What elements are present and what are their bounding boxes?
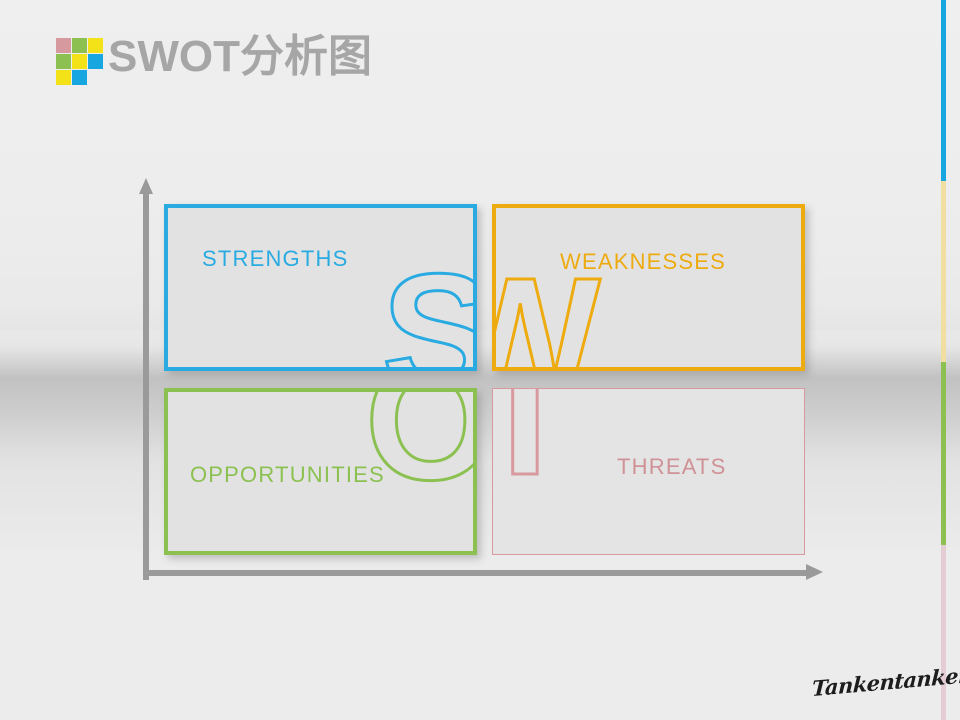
logo-tile-yellow [88,38,103,53]
strip-yellow [941,181,946,362]
quadrant-threats[interactable]: T THREATS [492,388,805,555]
page-title: SWOT分析图 [108,33,372,81]
quadrant-opportunities[interactable]: O OPPORTUNITIES [164,388,477,555]
quadrant-strengths[interactable]: S STRENGTHS [164,204,477,371]
logo-tile-yellow [56,70,71,85]
horizontal-axis-arrowhead-icon [806,564,823,580]
quadrant-label-strengths: STRENGTHS [202,246,348,272]
quadrant-label-weaknesses: WEAKNESSES [560,249,726,275]
logo-tile-green [56,54,71,69]
ghost-letter-o: O [365,388,477,506]
horizontal-axis-line [146,570,811,576]
strip-blue [941,0,946,181]
logo-tile-rose [56,38,71,53]
logo-tile-green [72,38,87,53]
strip-pink [941,545,946,720]
quadrant-label-threats: THREATS [617,454,726,480]
logo-tile-blue [88,54,103,69]
signature-watermark: Tankentanken [811,662,960,701]
logo-tile-yellow [72,54,87,69]
logo-tile-empty [88,70,103,85]
vertical-axis-line [143,190,149,580]
ghost-letter-t: T [492,388,577,501]
ghost-letter-s: S [382,249,477,371]
quadrant-label-opportunities: OPPORTUNITIES [190,462,385,488]
right-edge-color-strip [941,0,946,720]
logo-tile-blue [72,70,87,85]
vertical-axis-arrowhead-icon [139,178,153,194]
slide-canvas: SWOT分析图 S STRENGTHS W WEAKNESSES O OPPOR… [0,0,960,720]
quadrant-weaknesses[interactable]: W WEAKNESSES [492,204,805,371]
swot-logo [56,38,104,86]
strip-green [941,362,946,545]
